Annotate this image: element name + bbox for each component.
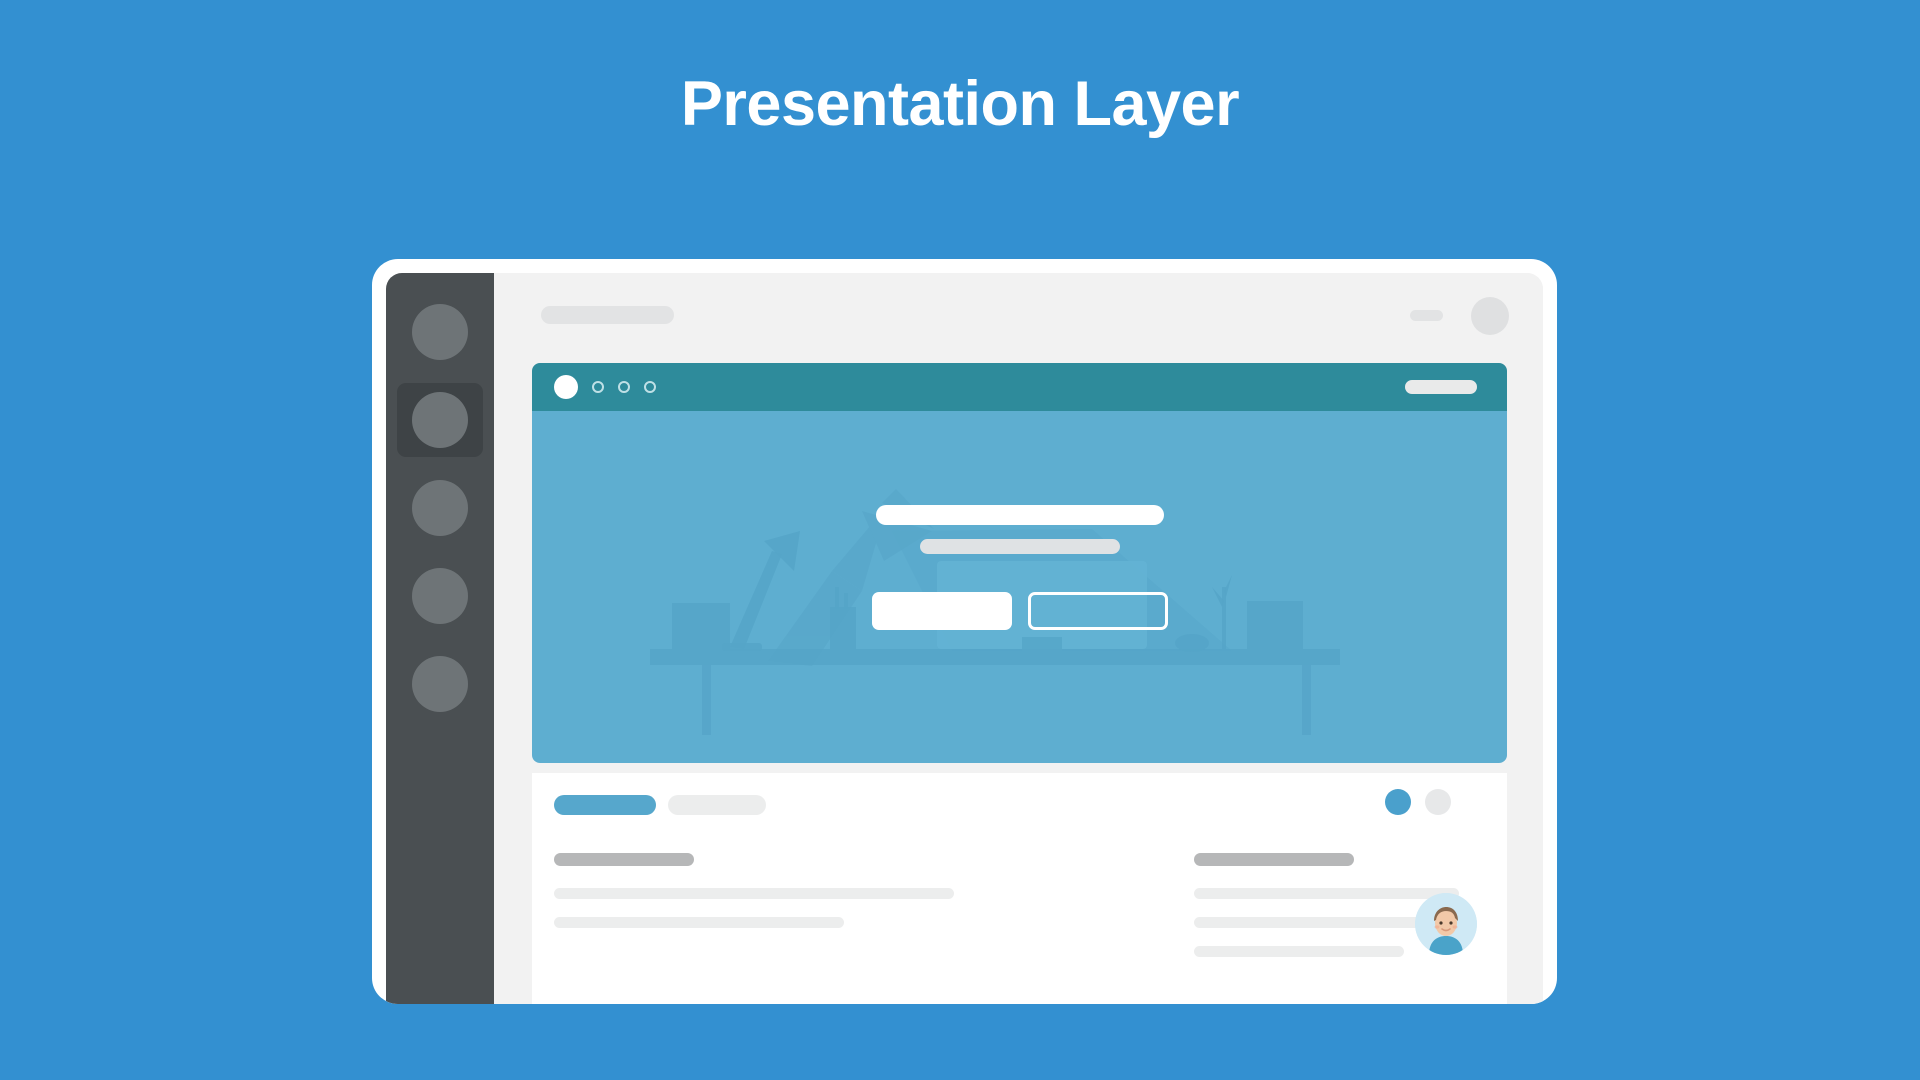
right-column-heading [1194,853,1354,866]
tablet-device-frame [372,259,1557,1004]
app-sidebar [386,273,494,1004]
sidebar-item-2[interactable] [397,383,483,457]
hero-content [845,505,1195,630]
nav-circle-icon [412,656,468,712]
pager-dot-active[interactable] [1385,789,1411,815]
sidebar-item-4[interactable] [397,559,483,633]
left-text-column [554,853,1084,975]
sidebar-item-1[interactable] [397,295,483,369]
nav-circle-icon [412,480,468,536]
nav-circle-icon [412,568,468,624]
nav-circle-icon [412,392,468,448]
left-column-line [554,917,844,928]
left-column-heading [554,853,694,866]
browser-url-bar[interactable] [1405,380,1477,394]
hero-subheadline-placeholder [920,539,1120,554]
right-column-line [1194,888,1459,899]
pager-dot-inactive[interactable] [1425,789,1451,815]
browser-titlebar [532,363,1507,411]
nav-circle-icon [412,304,468,360]
topbar-avatar[interactable] [1471,297,1509,335]
tab-item-active[interactable] [554,795,656,815]
topbar-menu-pill[interactable] [1410,310,1443,321]
tab-row [554,795,766,815]
left-column-line [554,888,954,899]
hero-button-group [845,592,1195,630]
sidebar-item-3[interactable] [397,471,483,545]
pagination-dots [1385,789,1451,815]
hero-secondary-button[interactable] [1028,592,1168,630]
content-section [532,773,1507,1004]
app-topbar [494,273,1543,359]
page-title: Presentation Layer [0,68,1920,140]
hero-headline-placeholder [876,505,1164,525]
hero-banner [532,411,1507,763]
user-avatar[interactable] [1415,893,1477,955]
sidebar-item-5[interactable] [397,647,483,721]
tablet-screen [386,273,1543,1004]
app-content-area [494,273,1543,1004]
right-column-line [1194,917,1444,928]
right-column-line [1194,946,1404,957]
browser-dot-outline-icon-3[interactable] [644,381,656,393]
hero-primary-button[interactable] [872,592,1012,630]
browser-dot-outline-icon-1[interactable] [592,381,604,393]
tab-item-inactive[interactable] [668,795,766,815]
browser-dot-outline-icon-2[interactable] [618,381,630,393]
person-avatar-icon [1415,893,1477,955]
browser-dot-filled-icon[interactable] [554,375,578,399]
app-logo-placeholder [541,306,674,324]
text-columns [554,853,1485,975]
browser-window-card [532,363,1507,763]
